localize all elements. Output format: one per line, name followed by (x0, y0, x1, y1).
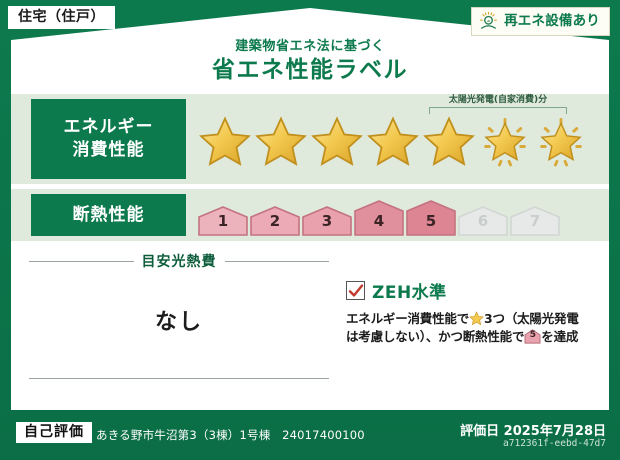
zeh-title: ZEH水準 (372, 278, 447, 303)
insulation-level-6: 6 (458, 206, 508, 236)
zeh-desc-part1: エネルギー消費性能で (346, 311, 469, 326)
insulation-level-1: 1 (198, 206, 248, 236)
self-evaluation-badge: 自己評価 (16, 422, 92, 443)
house-shape-icon (510, 206, 560, 236)
label-footer: 自己評価 あきる野市牛沼第3（3棟）1号棟 24017400100 評価日 20… (0, 410, 620, 460)
label-title: 建築物省エネ法に基づく 省エネ性能ラベル (0, 40, 620, 84)
zeh-desc-part3: を達成 (541, 329, 578, 344)
property-address: あきる野市牛沼第3（3棟）1号棟 24017400100 (96, 427, 365, 443)
utility-cost-section: 目安光熱費 なし (29, 251, 329, 379)
rule-left (29, 261, 134, 262)
zeh-section: ZEH水準 エネルギー消費性能で3つ（太陽光発電 は考慮しない）、かつ断熱性能で… (346, 278, 596, 346)
zeh-desc-stars: 3つ（太陽光発電 (484, 311, 579, 326)
zeh-desc-part2: は考慮しない）、かつ断熱性能で (346, 329, 524, 344)
insulation-level-5: 5 (406, 200, 456, 236)
solar-contribution-note: 太陽光発電(自家消費)分 (429, 96, 567, 114)
insulation-level-7: 7 (510, 206, 560, 236)
house-shape-icon (198, 206, 248, 236)
star-icon-filled (366, 115, 420, 169)
zeh-checkbox[interactable] (346, 281, 365, 300)
evaluation-id: a712361f-eebd-47d7 (503, 438, 606, 449)
rule-right (225, 261, 330, 262)
utility-cost-bottom-rule (29, 378, 329, 379)
insulation-level-3: 3 (302, 206, 352, 236)
house-shape-icon (302, 206, 352, 236)
utility-cost-title: 目安光熱費 (142, 251, 217, 271)
house-type-tag: 住宅（住戸） (8, 6, 115, 29)
house-shape-icon (406, 200, 456, 236)
insulation-row-label: 断熱性能 (31, 194, 186, 236)
star-icon-filled (198, 115, 252, 169)
energy-star-rating (186, 115, 588, 169)
renewable-badge-label: 再エネ設備あり (504, 15, 600, 29)
energy-performance-label: 住宅（住戸） 再エネ設備あり 建築物省エネ法に基づく 省エネ性能ラベル (0, 0, 620, 460)
utility-cost-value: なし (29, 304, 329, 336)
star-icon-filled (254, 115, 308, 169)
star-icon-solar (534, 115, 588, 169)
solar-note-bracket (429, 107, 567, 114)
star-icon-filled (310, 115, 364, 169)
star-icon-filled (422, 115, 476, 169)
solar-note-text: 太陽光発電(自家消費)分 (429, 96, 567, 105)
house-shape-icon (354, 200, 404, 236)
renewable-equipment-badge: 再エネ設備あり (471, 7, 610, 36)
star-icon-solar (478, 115, 532, 169)
insulation-level-2: 2 (250, 206, 300, 236)
zeh-description: エネルギー消費性能で3つ（太陽光発電 は考慮しない）、かつ断熱性能で5を達成 (346, 310, 596, 346)
sun-icon (478, 11, 499, 32)
title-main: 省エネ性能ラベル (0, 58, 620, 83)
energy-row-body: 太陽光発電(自家消費)分 (186, 94, 609, 184)
energy-label-line2: 消費性能 (73, 139, 145, 162)
label-card: エネルギー 消費性能 太陽光発電(自家消費)分 断熱性能 1234567 (11, 88, 609, 410)
utility-cost-header: 目安光熱費 (29, 251, 329, 271)
insulation-label-text: 断熱性能 (73, 204, 145, 227)
insulation-level-scale: 1234567 (186, 189, 560, 241)
evaluation-date: 評価日 2025年7月28日 (460, 420, 606, 439)
inline-house-number: 5 (524, 331, 541, 340)
inline-house-icon: 5 (524, 329, 541, 344)
energy-label-line1: エネルギー (64, 116, 154, 139)
insulation-performance-row: 断熱性能 1234567 (11, 189, 609, 241)
check-icon (348, 283, 364, 299)
inline-star-icon (469, 311, 484, 326)
insulation-row-body: 1234567 (186, 189, 609, 241)
energy-performance-row: エネルギー 消費性能 太陽光発電(自家消費)分 (11, 94, 609, 184)
house-shape-icon (458, 206, 508, 236)
zeh-header: ZEH水準 (346, 278, 596, 303)
house-shape-icon (250, 206, 300, 236)
insulation-level-4: 4 (354, 200, 404, 236)
energy-row-label: エネルギー 消費性能 (31, 99, 186, 179)
title-subtitle: 建築物省エネ法に基づく (0, 40, 620, 54)
